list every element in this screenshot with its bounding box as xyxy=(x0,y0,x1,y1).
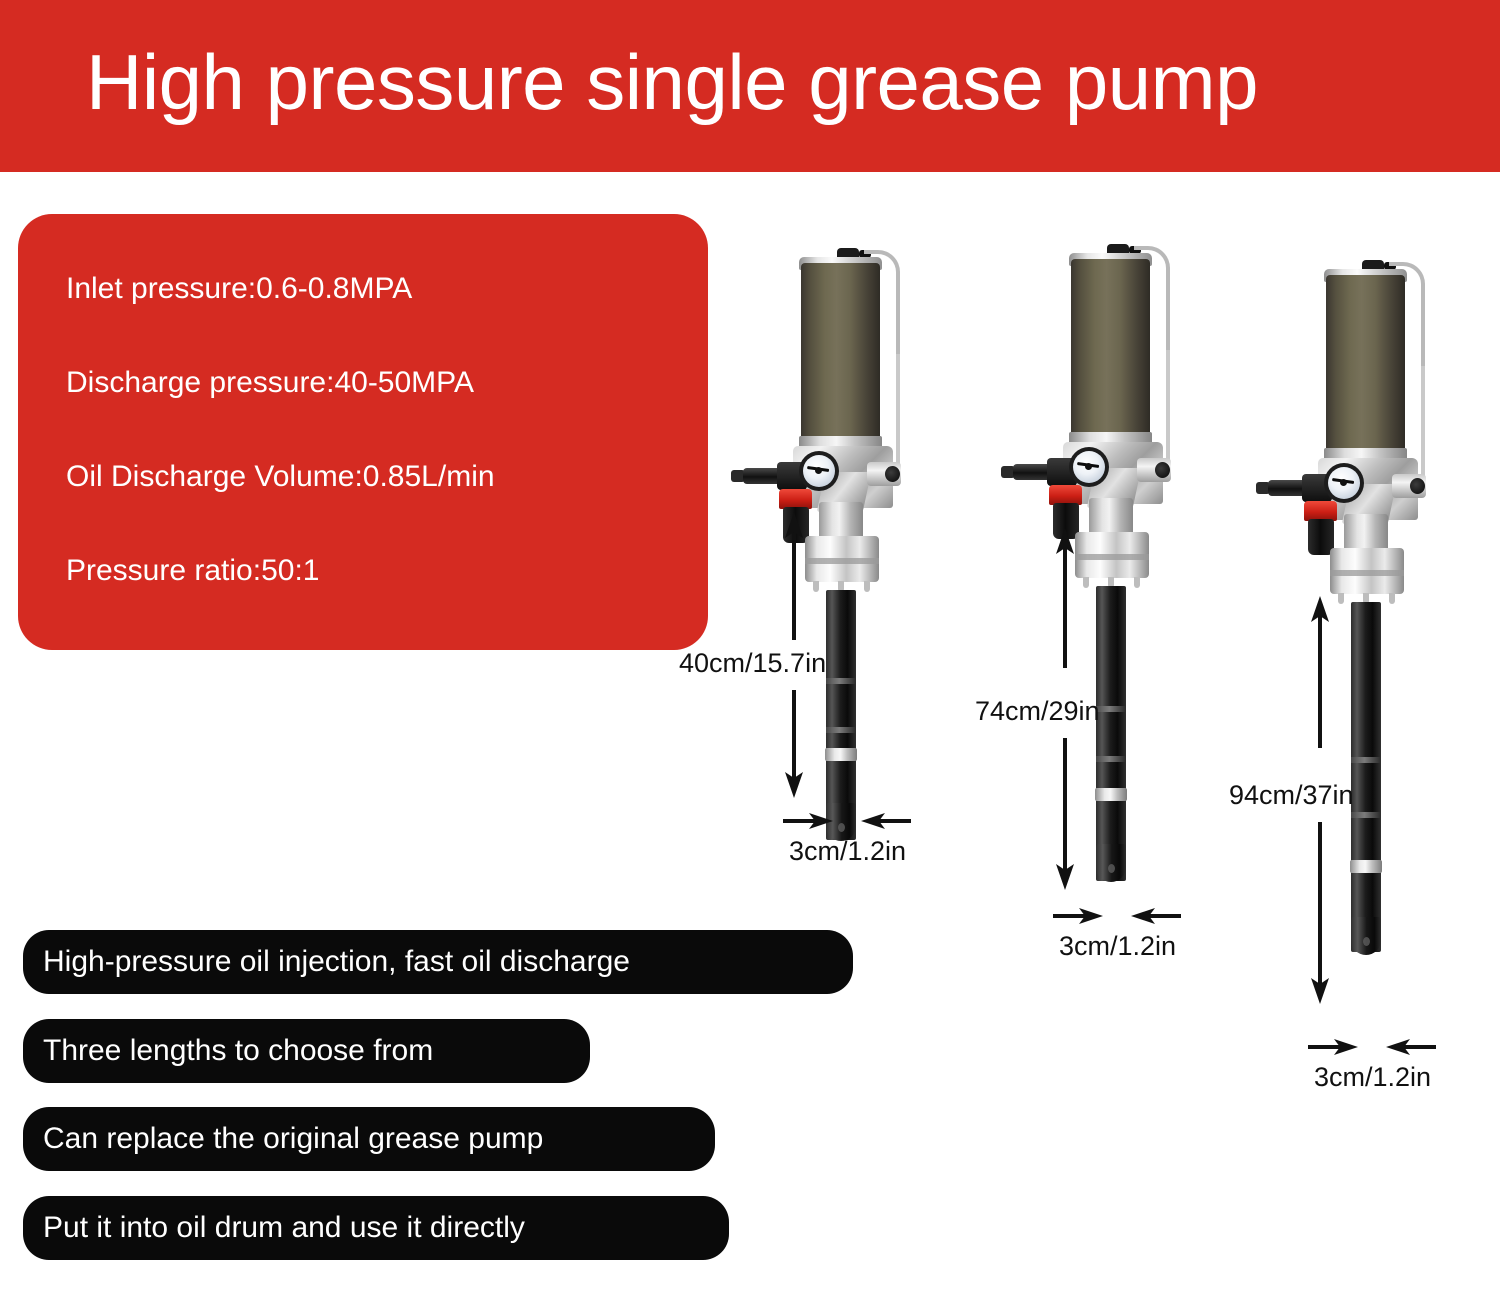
pressure-gauge-face xyxy=(1328,467,1360,499)
outlet-port-bore xyxy=(885,466,900,482)
collar-screw xyxy=(1134,577,1140,588)
suction-tube-tip xyxy=(1351,917,1381,955)
length-label-pump-94cm: 94cm/37in xyxy=(1229,780,1354,810)
regulator-adjust-knob xyxy=(1049,485,1082,505)
width-arrow-right-pump-40cm xyxy=(861,810,911,832)
page-title: High pressure single grease pump xyxy=(86,34,1258,130)
pressure-gauge-hub xyxy=(1085,463,1092,470)
suction-tube-band xyxy=(1095,788,1127,801)
spec-inlet-pressure: Inlet pressure:0.6-0.8MPA xyxy=(66,271,412,307)
pressure-gauge-hub xyxy=(815,467,822,474)
length-label-pump-74cm: 74cm/29in xyxy=(975,696,1100,726)
width-arrow-right-pump-74cm xyxy=(1131,905,1181,927)
motor-body xyxy=(801,263,880,443)
mounting-collar-band xyxy=(1330,570,1404,576)
width-arrow-left-pump-74cm xyxy=(1053,905,1103,927)
width-arrow-right-pump-94cm xyxy=(1386,1036,1436,1058)
suction-tube-joint xyxy=(1351,757,1381,763)
collar-screw xyxy=(1338,593,1344,604)
width-label-pump-94cm: 3cm/1.2in xyxy=(1314,1062,1431,1092)
collar-screw xyxy=(864,581,870,592)
length-arrow-down-pump-74cm xyxy=(1052,738,1078,890)
feature-bar-three-lengths: Three lengths to choose from xyxy=(23,1019,590,1083)
width-label-pump-40cm: 3cm/1.2in xyxy=(789,836,906,866)
length-arrow-up-pump-74cm xyxy=(1052,528,1078,668)
outlet-port-bore xyxy=(1410,478,1425,494)
pressure-gauge xyxy=(799,451,839,491)
width-arrow-left-pump-94cm xyxy=(1308,1036,1358,1058)
pump-head-assembly xyxy=(995,236,1185,526)
spec-discharge-pressure: Discharge pressure:40-50MPA xyxy=(66,365,474,401)
collar-screw xyxy=(1389,593,1395,604)
housing-neck xyxy=(1089,498,1133,536)
length-label-pump-40cm: 40cm/15.7in xyxy=(679,648,826,678)
suction-tube-band xyxy=(825,748,857,761)
suction-tube-band xyxy=(1350,860,1382,873)
pressure-gauge xyxy=(1324,463,1364,503)
suction-tube-intake-hole xyxy=(1363,937,1370,946)
suction-tube-joint xyxy=(826,727,856,733)
mounting-collar-band xyxy=(1075,554,1149,560)
feature-bar-oil-injection: High-pressure oil injection, fast oil di… xyxy=(23,930,853,994)
mounting-collar-band xyxy=(805,558,879,564)
feature-bar-replace-pump: Can replace the original grease pump xyxy=(23,1107,715,1171)
suction-tube xyxy=(1096,586,1126,881)
suction-tube-joint xyxy=(1096,706,1126,712)
pressure-gauge-hub xyxy=(1340,479,1347,486)
suction-tube-joint xyxy=(1351,812,1381,818)
housing-neck xyxy=(1344,514,1388,552)
outlet-port-bore xyxy=(1155,462,1170,478)
collar-screw xyxy=(1083,577,1089,588)
length-arrow-up-pump-94cm xyxy=(1307,596,1333,748)
motor-body xyxy=(1326,275,1405,455)
regulator-adjust-knob xyxy=(779,489,812,509)
pump-head-assembly xyxy=(1250,252,1440,542)
pressure-gauge xyxy=(1069,447,1109,487)
pressure-gauge-face xyxy=(1073,451,1105,483)
width-label-pump-74cm: 3cm/1.2in xyxy=(1059,931,1176,961)
pump-head-assembly xyxy=(725,240,915,530)
length-arrow-down-pump-94cm xyxy=(1307,822,1333,1004)
housing-neck xyxy=(819,502,863,540)
infographic-page: High pressure single grease pump Inlet p… xyxy=(0,0,1500,1298)
feature-bar-oil-drum-use: Put it into oil drum and use it directly xyxy=(23,1196,729,1260)
specifications-card: Inlet pressure:0.6-0.8MPA Discharge pres… xyxy=(18,214,708,650)
suction-tube-intake-hole xyxy=(1108,864,1115,873)
spec-pressure-ratio: Pressure ratio:50:1 xyxy=(66,553,319,589)
length-arrow-down-pump-40cm xyxy=(781,690,807,798)
regulator-adjust-knob xyxy=(1304,501,1337,521)
suction-tube-tip xyxy=(1096,844,1126,882)
spec-oil-discharge-volume: Oil Discharge Volume:0.85L/min xyxy=(66,459,495,495)
title-banner: High pressure single grease pump xyxy=(0,0,1500,172)
suction-tube xyxy=(1351,602,1381,952)
length-arrow-up-pump-40cm xyxy=(781,512,807,640)
collar-screw xyxy=(813,581,819,592)
motor-body xyxy=(1071,259,1150,439)
width-arrow-left-pump-40cm xyxy=(783,810,833,832)
suction-tube-intake-hole xyxy=(838,823,845,832)
pressure-gauge-face xyxy=(803,455,835,487)
suction-tube-joint xyxy=(1096,756,1126,762)
suction-tube-joint xyxy=(826,678,856,684)
